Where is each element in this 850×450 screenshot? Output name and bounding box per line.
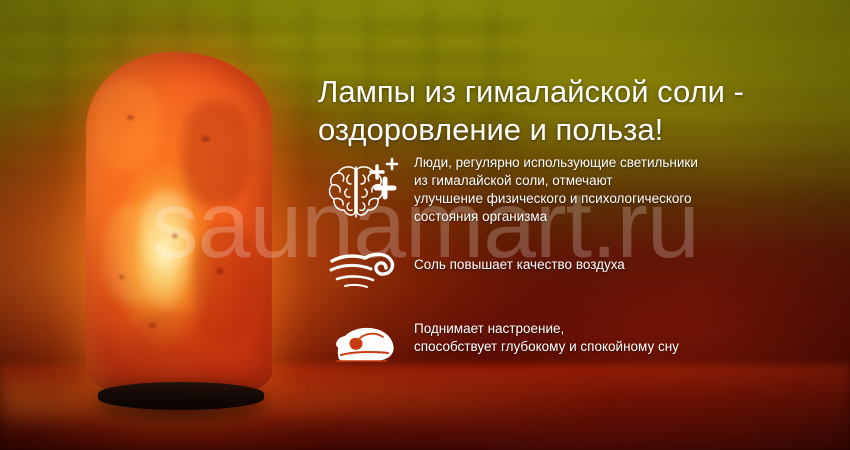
wind-swirl-icon	[318, 242, 414, 294]
feature-item-wellbeing: Люди, регулярно использующие светильники…	[318, 152, 838, 226]
feature-list: Люди, регулярно использующие светильники…	[318, 152, 838, 370]
sleeping-person-icon	[318, 310, 414, 370]
headline-line-1: Лампы из гималайской соли -	[318, 73, 838, 111]
feature-line: улучшение физического и психологического	[414, 190, 838, 208]
feature-line: Люди, регулярно использующие светильники	[414, 154, 838, 172]
feature-text-wellbeing: Люди, регулярно использующие светильники…	[414, 152, 838, 226]
feature-text-air-quality: Соль повышает качество воздуха	[414, 242, 838, 274]
page-title: Лампы из гималайской соли - оздоровление…	[318, 73, 838, 149]
headline-line-2: оздоровление и польза!	[318, 111, 838, 149]
brain-plus-icon	[318, 152, 414, 224]
feature-item-air-quality: Соль повышает качество воздуха	[318, 242, 838, 294]
feature-line: способствует глубокому и спокойному сну	[414, 338, 838, 356]
feature-line: состояния организма	[414, 208, 838, 226]
salt-lamp-promo-banner: saunamart.ru Лампы из гималайской соли -…	[0, 0, 850, 450]
feature-line: Соль повышает качество воздуха	[414, 256, 838, 274]
feature-item-sleep: Поднимает настроение, способствует глубо…	[318, 310, 838, 370]
feature-line: из гималайской соли, отмечают	[414, 172, 838, 190]
feature-text-sleep: Поднимает настроение, способствует глубо…	[414, 310, 838, 356]
feature-line: Поднимает настроение,	[414, 320, 838, 338]
